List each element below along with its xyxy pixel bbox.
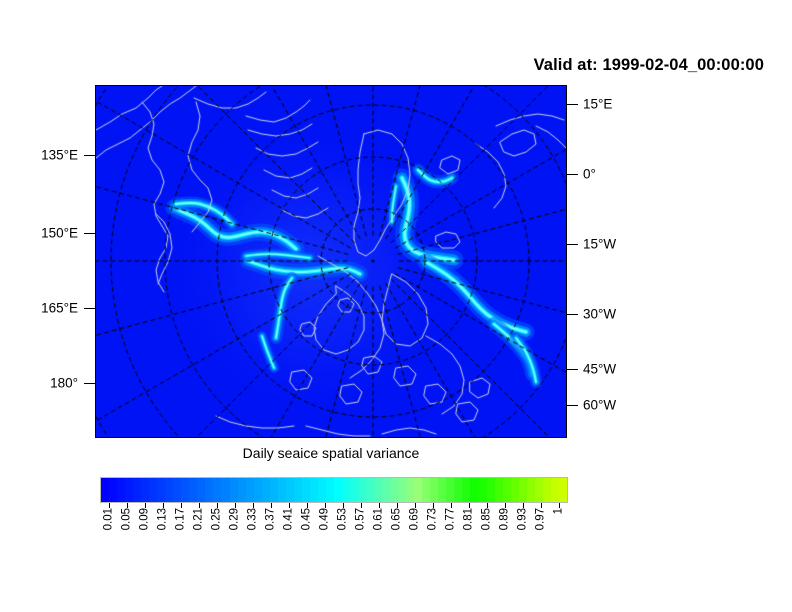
right-axis-tick [567, 369, 578, 370]
left-axis-label: 180° [50, 376, 78, 390]
colorbar-segment [286, 478, 294, 502]
colorbar-tick-label: 0.29 [229, 508, 241, 530]
colorbar-segment [527, 478, 535, 502]
colorbar-segment [149, 478, 157, 502]
colorbar-segment [254, 478, 262, 502]
colorbar-segment [366, 478, 374, 502]
colorbar-segment [438, 478, 446, 502]
colorbar-tick-label: 0.73 [427, 508, 439, 530]
right-axis-tick [567, 174, 578, 175]
left-axis-label: 135°E [41, 148, 78, 162]
colorbar-segment [262, 478, 270, 502]
colorbar-tick-label: 0.09 [139, 508, 151, 530]
right-axis-tick [567, 104, 578, 105]
colorbar-segment [221, 478, 229, 502]
colorbar-segment [246, 478, 254, 502]
colorbar-segment [213, 478, 221, 502]
colorbar-segment [374, 478, 382, 502]
colorbar-segment [157, 478, 165, 502]
right-axis-label: 15°E [583, 97, 612, 111]
colorbar-tick-label: 0.65 [391, 508, 403, 530]
map-raster [96, 86, 567, 438]
colorbar-tick-label: 0.45 [301, 508, 313, 530]
colorbar-tick-label: 0.97 [535, 508, 547, 530]
left-axis-tick [84, 233, 95, 234]
colorbar-segment [173, 478, 181, 502]
colorbar-tick-label: 0.81 [463, 508, 475, 530]
colorbar-tick-label: 0.33 [247, 508, 259, 530]
colorbar-segment [535, 478, 543, 502]
colorbar-tick-label: 0.61 [373, 508, 385, 530]
colorbar-tick-label: 0.13 [157, 508, 169, 530]
map-plot-area [95, 85, 567, 438]
colorbar-segment [326, 478, 334, 502]
colorbar-segment [454, 478, 462, 502]
colorbar-segment [117, 478, 125, 502]
right-axis-tick [567, 405, 578, 406]
colorbar-segment [189, 478, 197, 502]
colorbar-segment [294, 478, 302, 502]
colorbar-segment [310, 478, 318, 502]
colorbar-segment [230, 478, 238, 502]
left-axis-tick [84, 383, 95, 384]
right-axis-label: 0° [583, 167, 596, 181]
colorbar-segment [101, 478, 109, 502]
colorbar-tick-label: 0.01 [103, 508, 115, 530]
colorbar-segment [109, 478, 117, 502]
right-axis-label: 60°W [583, 398, 616, 412]
colorbar-segment [414, 478, 422, 502]
colorbar-tick-label: 0.77 [445, 508, 457, 530]
colorbar-segment [422, 478, 430, 502]
colorbar-segment [390, 478, 398, 502]
colorbar-segment [495, 478, 503, 502]
colorbar-segment [519, 478, 527, 502]
colorbar-segment [478, 478, 486, 502]
colorbar-segment [205, 478, 213, 502]
colorbar-segment [350, 478, 358, 502]
colorbar-segment [487, 478, 495, 502]
colorbar-segment [141, 478, 149, 502]
colorbar-gradient [100, 477, 568, 503]
figure-title: Valid at: 1999-02-04_00:00:00 [0, 56, 764, 75]
colorbar-tick-label: 0.89 [499, 508, 511, 530]
right-axis-label: 45°W [583, 362, 616, 376]
colorbar-segment [503, 478, 511, 502]
colorbar-segment [446, 478, 454, 502]
colorbar-segment [430, 478, 438, 502]
colorbar-segment [133, 478, 141, 502]
colorbar-segment [334, 478, 342, 502]
colorbar-tick-label: 0.57 [355, 508, 367, 530]
right-axis-label: 15°W [583, 237, 616, 251]
colorbar-tick-label: 0.85 [481, 508, 493, 530]
colorbar-segment [511, 478, 519, 502]
colorbar-segment [318, 478, 326, 502]
right-axis-label: 30°W [583, 307, 616, 321]
colorbar-tick-label: 0.25 [211, 508, 223, 530]
colorbar-segment [197, 478, 205, 502]
colorbar-segment [302, 478, 310, 502]
colorbar-tick-label: 0.53 [337, 508, 349, 530]
colorbar-segment [125, 478, 133, 502]
colorbar-tick-label: 0.37 [265, 508, 277, 530]
colorbar-segment [551, 478, 559, 502]
colorbar-tick-label: 0.05 [121, 508, 133, 530]
colorbar-segment [382, 478, 390, 502]
colorbar-tick-label: 1 [553, 508, 565, 514]
colorbar-tick-label: 0.49 [319, 508, 331, 530]
right-axis-tick [567, 244, 578, 245]
colorbar-tick-label: 0.93 [517, 508, 529, 530]
colorbar-segment [470, 478, 478, 502]
colorbar-tick-label: 0.17 [175, 508, 187, 530]
colorbar-segment [270, 478, 278, 502]
colorbar-segment [559, 478, 567, 502]
colorbar-tick-label: 0.21 [193, 508, 205, 530]
left-axis-label: 165°E [41, 301, 78, 315]
left-axis-tick [84, 155, 95, 156]
left-axis-label: 150°E [41, 226, 78, 240]
colorbar-segment [462, 478, 470, 502]
colorbar-segment [543, 478, 551, 502]
colorbar-segment [278, 478, 286, 502]
colorbar-tick-label: 0.69 [409, 508, 421, 530]
colorbar-segment [342, 478, 350, 502]
left-axis-tick [84, 308, 95, 309]
colorbar-segment [238, 478, 246, 502]
colorbar-segment [398, 478, 406, 502]
colorbar [100, 477, 568, 503]
figure-canvas: Valid at: 1999-02-04_00:00:00 135°E150°E… [0, 0, 792, 612]
colorbar-segment [181, 478, 189, 502]
right-axis-tick [567, 314, 578, 315]
colorbar-caption: Daily seaice spatial variance [95, 445, 567, 461]
colorbar-tick-label: 0.41 [283, 508, 295, 530]
colorbar-segment [358, 478, 366, 502]
colorbar-segment [406, 478, 414, 502]
colorbar-segment [165, 478, 173, 502]
